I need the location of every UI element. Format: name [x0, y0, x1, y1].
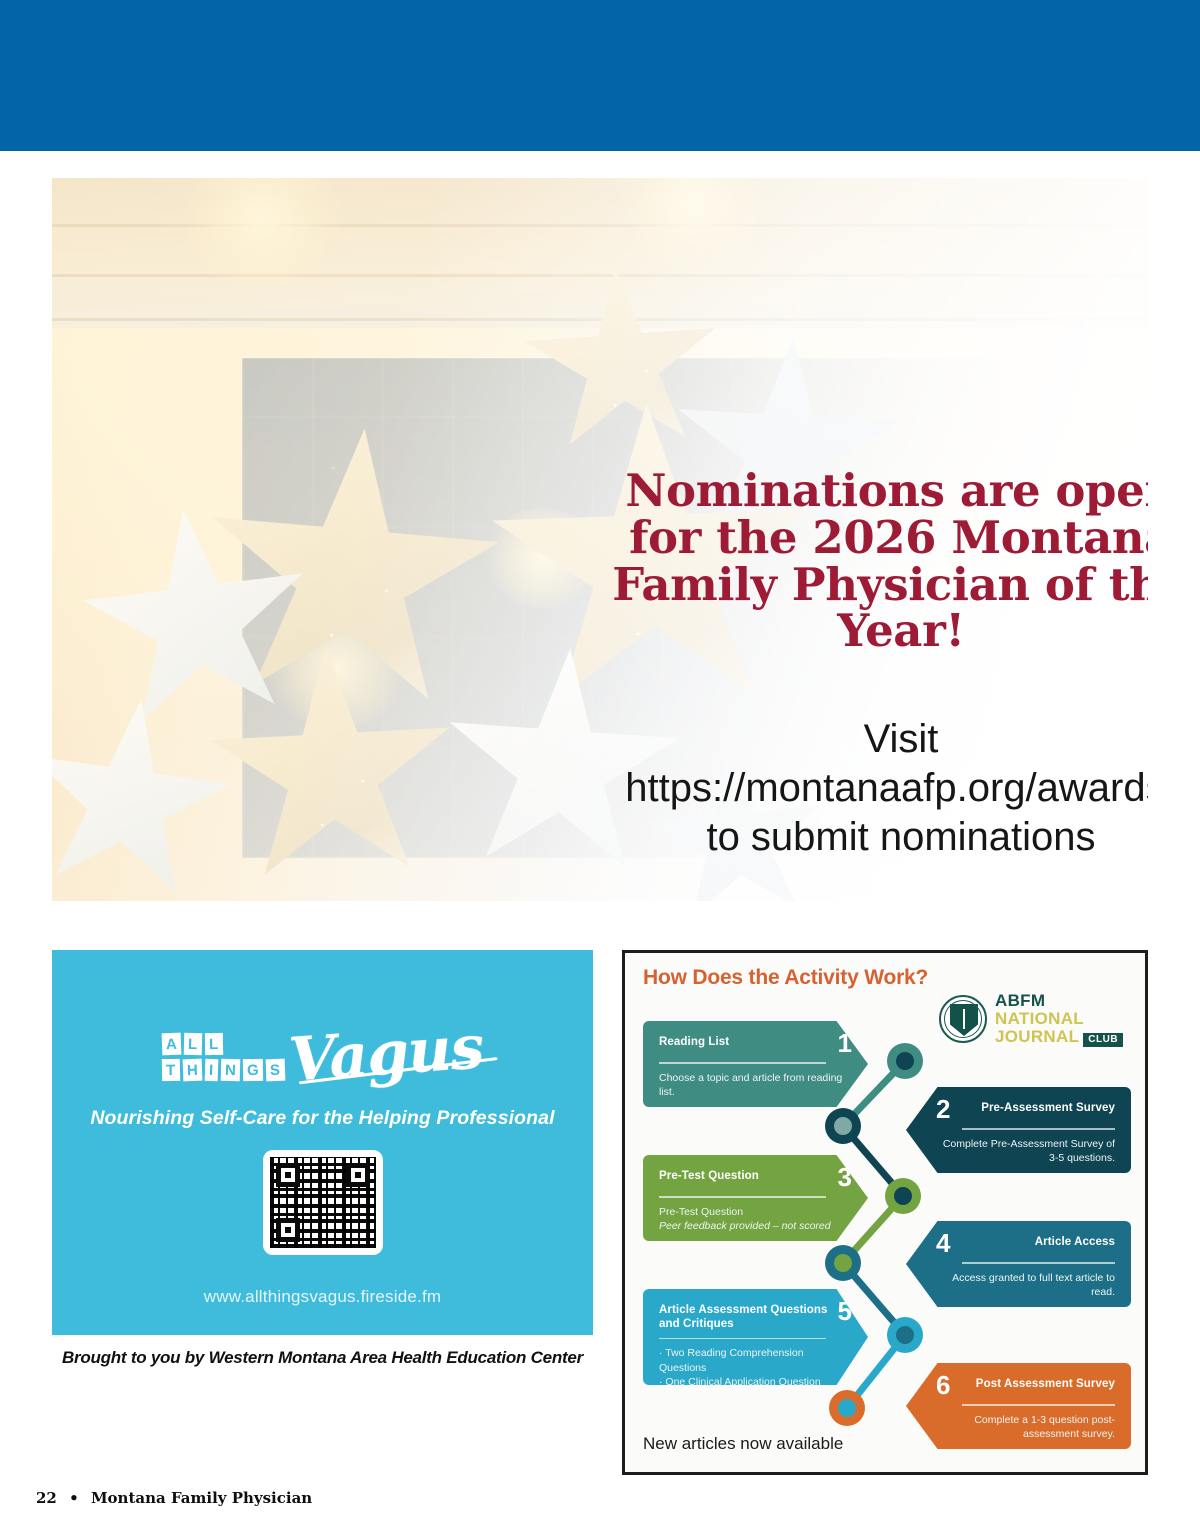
all-row: A L L — [162, 1033, 285, 1055]
things-row: T H I N G S — [162, 1059, 285, 1081]
vagus-tagline: Nourishing Self-Care for the Helping Pro… — [52, 1107, 593, 1130]
logo-letter: A — [162, 1033, 182, 1056]
ad-headline: Nominations are open for the 2026 Montan… — [612, 468, 1148, 655]
infographic-title: How Does the Activity Work? — [643, 966, 928, 990]
abfm-national-journal-club-ad: How Does the Activity Work? ABFM NATIONA… — [622, 950, 1148, 1475]
step-bullet: One Methodological Question — [659, 1390, 852, 1404]
nominations-ad: Nominations are open for the 2026 Montan… — [52, 178, 1148, 901]
step-2: 2 Pre-Assessment Survey Complete Pre-Ass… — [906, 1087, 1131, 1173]
top-blue-banner — [0, 0, 1200, 151]
connector-node-1 — [887, 1043, 923, 1079]
step-title: Reading List — [659, 1030, 729, 1049]
cta-line-1: Visit — [864, 717, 939, 761]
step-number: 1 — [838, 1030, 852, 1056]
step-1: Reading List 1 Choose a topic and articl… — [643, 1021, 868, 1107]
page-number: 22 — [36, 1489, 57, 1507]
vagus-logo: A L L T H I N G S Vagus — [52, 1006, 593, 1102]
vagus-url[interactable]: www.allthingsvagus.fireside.fm — [52, 1287, 593, 1307]
step-4: 4 Article Access Access granted to full … — [906, 1221, 1131, 1307]
logo-letter: I — [205, 1059, 218, 1081]
publication-name: Montana Family Physician — [91, 1489, 312, 1507]
connector-node-4 — [825, 1245, 861, 1281]
abfm-logo-line1: ABFM — [995, 992, 1123, 1009]
logo-letter: T — [162, 1059, 180, 1081]
step-body: Pre-Test Question Peer feedback provided… — [659, 1205, 852, 1234]
cta-line-3: to submit nominations — [706, 815, 1095, 859]
connector-node-3 — [885, 1178, 921, 1214]
all-things-vagus-ad: A L L T H I N G S Vagus Nourishing Self-… — [52, 950, 593, 1335]
abfm-logo-text: ABFM NATIONAL JOURNAL CLUB — [995, 992, 1123, 1047]
abfm-logo-badge: CLUB — [1083, 1033, 1123, 1047]
step-number: 4 — [936, 1230, 950, 1256]
logo-letter: S — [266, 1059, 285, 1082]
step-title: Article Access — [1035, 1230, 1115, 1249]
step-title: Pre-Assessment Survey — [981, 1096, 1115, 1115]
abfm-logo: ABFM NATIONAL JOURNAL CLUB — [939, 991, 1129, 1047]
abfm-logo-line2: NATIONAL — [995, 1010, 1123, 1027]
step-5: Article Assessment Questions and Critiqu… — [643, 1289, 868, 1385]
page-footer: 22 • Montana Family Physician — [36, 1489, 312, 1507]
step-3: Pre-Test Question 3 Pre-Test Question Pe… — [643, 1155, 868, 1241]
step-body-text: Pre-Test Question — [659, 1206, 743, 1218]
abfm-logo-line3: JOURNAL — [995, 1028, 1079, 1045]
step-number: 6 — [936, 1372, 950, 1398]
step-number: 5 — [838, 1298, 852, 1324]
all-things-wordmark: A L L T H I N G S — [162, 1027, 285, 1081]
step-body: Complete a 1-3 question post-assessment … — [936, 1413, 1115, 1442]
step-title: Article Assessment Questions and Critiqu… — [659, 1298, 830, 1332]
step-title: Pre-Test Question — [659, 1164, 759, 1183]
step-title: Post Assessment Survey — [976, 1372, 1115, 1391]
step-number: 3 — [838, 1164, 852, 1190]
connector-node-6 — [829, 1390, 865, 1426]
logo-letter: L — [184, 1033, 202, 1055]
vagus-ad-caption: Brought to you by Western Montana Area H… — [52, 1348, 593, 1368]
step-bullet: Two Reading Comprehension Questions — [659, 1346, 852, 1375]
qr-code[interactable] — [263, 1150, 383, 1255]
logo-letter: N — [220, 1059, 240, 1081]
cta-url[interactable]: https://montanaafp.org/awards/ — [625, 766, 1148, 810]
ad-text-block: Nominations are open for the 2026 Montan… — [612, 468, 1148, 862]
logo-letter: L — [205, 1033, 223, 1055]
step-6: 6 Post Assessment Survey Complete a 1-3 … — [906, 1363, 1131, 1449]
connector-node-2 — [825, 1108, 861, 1144]
step-body-italic: Peer feedback provided – not scored — [659, 1219, 852, 1233]
step-body: Two Reading Comprehension Questions One … — [659, 1346, 852, 1404]
step-body: Choose a topic and article from reading … — [659, 1071, 852, 1100]
step-body: Complete Pre-Assessment Survey of 3-5 qu… — [936, 1137, 1115, 1166]
footer-separator: • — [69, 1489, 79, 1507]
connector-node-5 — [887, 1317, 923, 1353]
new-articles-note: New articles now available — [643, 1434, 843, 1454]
ad-call-to-action: Visit https://montanaafp.org/awards/ to … — [612, 715, 1148, 861]
logo-letter: H — [182, 1059, 202, 1082]
vagus-script-wordmark: Vagus — [287, 1020, 485, 1087]
step-bullet: One Clinical Application Question — [659, 1375, 852, 1389]
abfm-seal-icon — [939, 995, 987, 1043]
logo-letter: G — [243, 1059, 264, 1081]
step-number: 2 — [936, 1096, 950, 1122]
step-body: Access granted to full text article to r… — [936, 1271, 1115, 1300]
